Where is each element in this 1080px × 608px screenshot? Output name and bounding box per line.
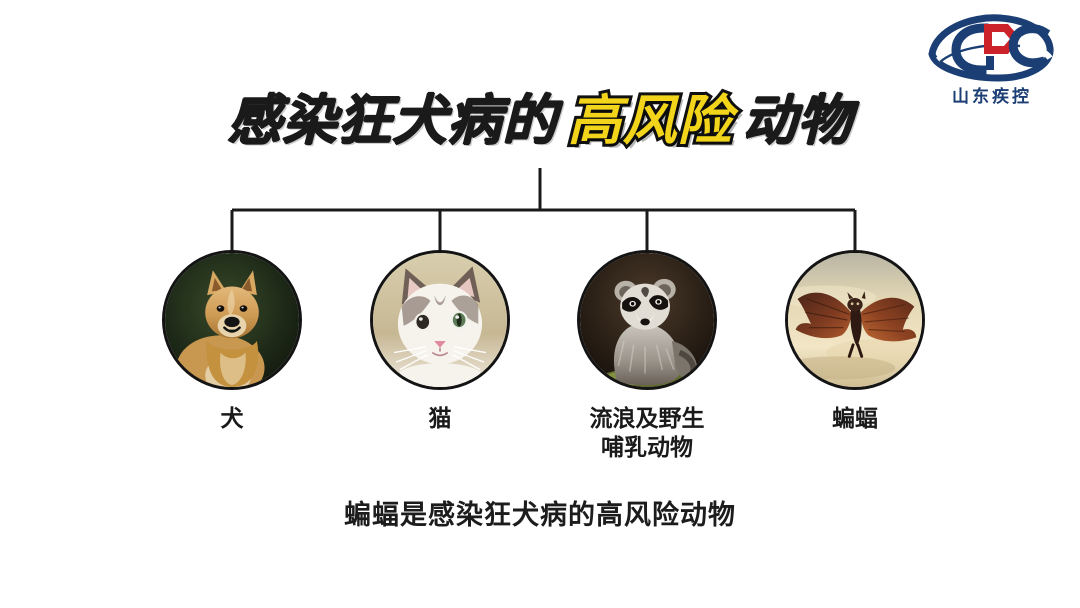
dog-photo-icon [162,250,302,390]
cdc-logo-icon [922,8,1062,86]
connector-tree [0,168,1080,260]
animal-card-bat[interactable]: 蝙蝠 [780,250,930,433]
title-segment-prefix: 感染狂犬病的 [228,94,558,148]
cat-photo-icon [370,250,510,390]
animal-card-list: 犬 [0,250,1080,470]
raccoon-photo-icon [577,250,717,390]
title-segment-highlight: 高风险 [568,94,733,148]
animal-card-dog[interactable]: 犬 [157,250,307,433]
animal-card-cat[interactable]: 猫 [365,250,515,433]
animal-label-stray-wild-mammals: 流浪及野生 哺乳动物 [572,404,722,463]
bat-photo-icon [785,250,925,390]
animal-label-dog: 犬 [157,404,307,433]
infographic-canvas: 山东疾控 感染狂犬病的高风险动物 [0,0,1080,608]
title-segment-suffix: 动物 [743,94,853,148]
caption-subtitle: 蝙蝠是感染狂犬病的高风险动物 [0,502,1080,529]
page-title: 感染狂犬病的高风险动物 [0,94,1080,148]
animal-label-bat: 蝙蝠 [780,404,930,433]
animal-card-stray-wild-mammals[interactable]: 流浪及野生 哺乳动物 [572,250,722,463]
animal-label-cat: 猫 [365,404,515,433]
